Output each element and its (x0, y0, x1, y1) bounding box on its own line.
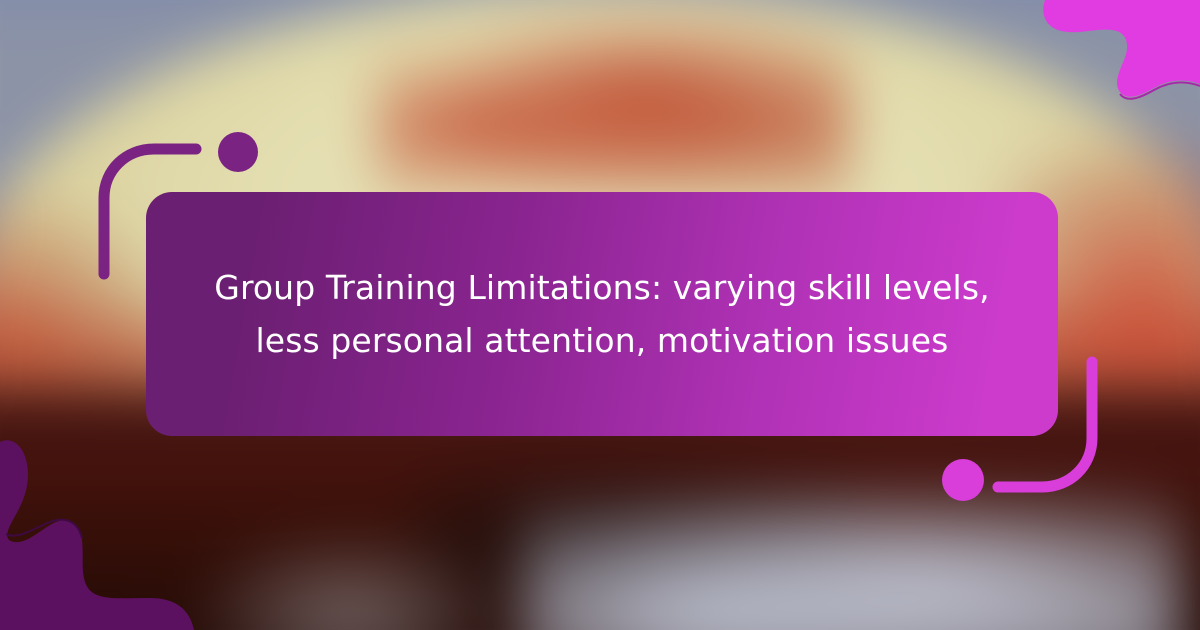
organic-blob-bottom-left (0, 430, 230, 630)
background-signage (376, 15, 851, 210)
headline-text: Group Training Limitations: varying skil… (192, 261, 1012, 368)
social-card-canvas: Group Training Limitations: varying skil… (0, 0, 1200, 630)
organic-blob-top-right (990, 0, 1200, 140)
headline-card: Group Training Limitations: varying skil… (146, 192, 1058, 436)
dot-top-left (218, 132, 258, 172)
dot-bottom-right (942, 459, 984, 501)
